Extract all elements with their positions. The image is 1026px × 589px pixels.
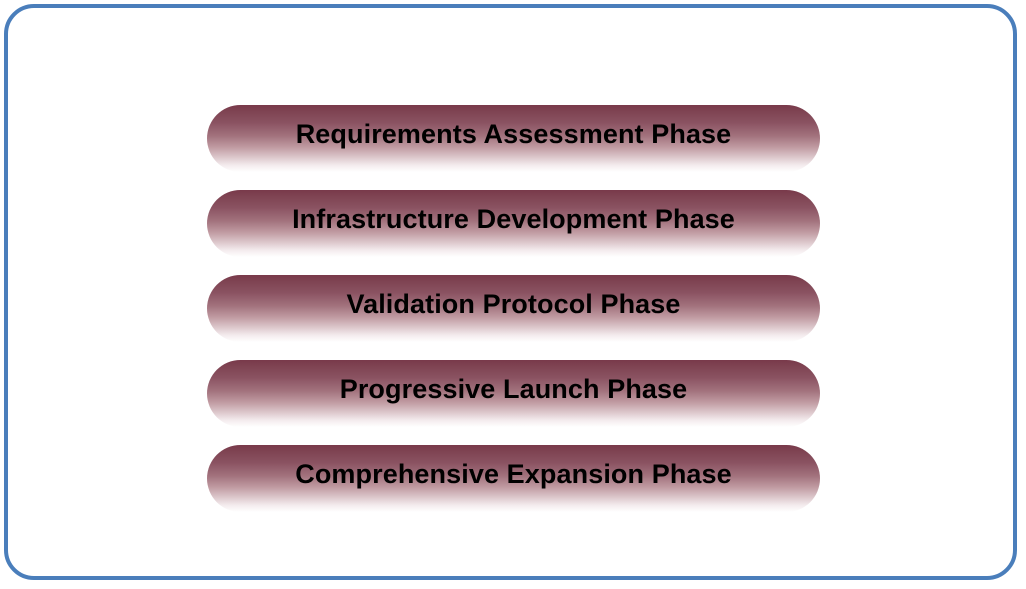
- phase-bar-5[interactable]: Comprehensive Expansion Phase: [207, 445, 820, 512]
- phase-bar-4[interactable]: Progressive Launch Phase: [207, 360, 820, 427]
- phase-label-5: Comprehensive Expansion Phase: [295, 461, 732, 488]
- phase-label-1: Requirements Assessment Phase: [296, 121, 732, 148]
- phase-label-2: Infrastructure Development Phase: [292, 206, 735, 233]
- phase-label-3: Validation Protocol Phase: [346, 291, 680, 318]
- diagram-canvas: Requirements Assessment Phase Infrastruc…: [0, 0, 1026, 589]
- phase-bar-2[interactable]: Infrastructure Development Phase: [207, 190, 820, 257]
- phase-label-4: Progressive Launch Phase: [340, 376, 688, 403]
- phase-list: Requirements Assessment Phase Infrastruc…: [207, 105, 820, 512]
- phase-bar-1[interactable]: Requirements Assessment Phase: [207, 105, 820, 172]
- phase-bar-3[interactable]: Validation Protocol Phase: [207, 275, 820, 342]
